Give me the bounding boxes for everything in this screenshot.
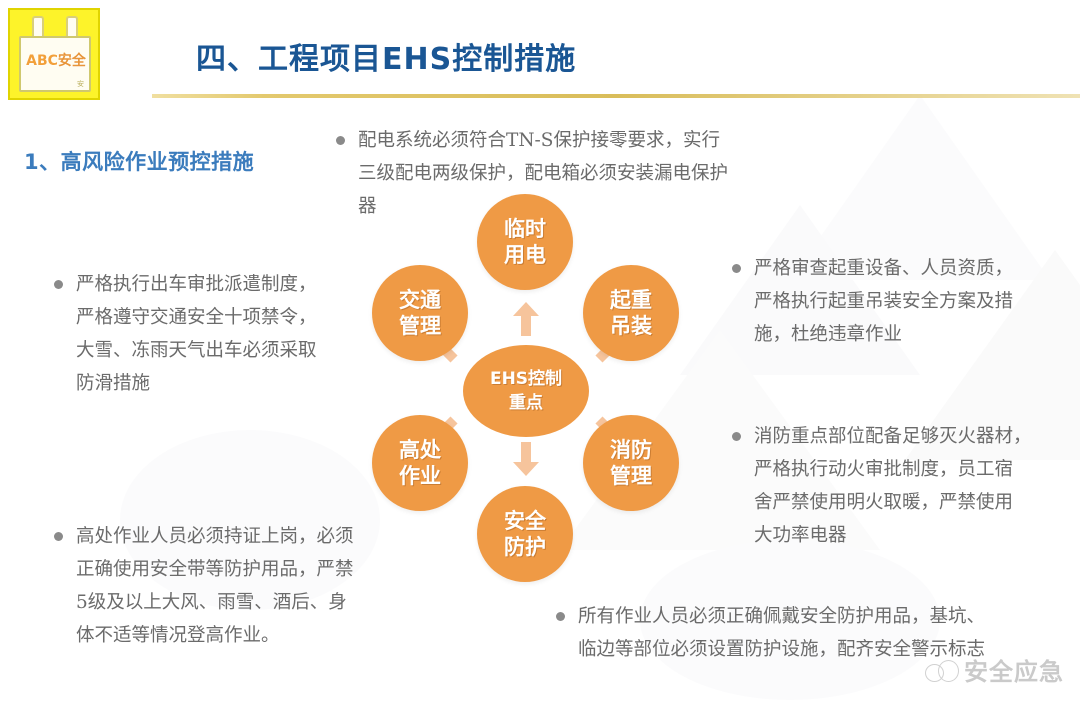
core-label-line2: 重点 (509, 391, 543, 415)
node-label-line2: 作业 (399, 463, 441, 489)
bullet-text: 高处作业人员必须持证上岗，必须 正确使用安全带等防护用品，严禁 5级及以上大风、… (76, 520, 354, 652)
node-label-line1: 交通 (399, 287, 441, 313)
ehs-radial-diagram: 临时 用电 交通 管理 起重 吊装 高处 作业 消防 管理 安全 防护 EHS控… (350, 190, 750, 590)
node-label-line2: 管理 (399, 313, 441, 339)
brand-logo: ABC安全 安 (8, 8, 100, 100)
node-label-line1: 临时 (504, 216, 546, 242)
bullet-fire-management: 消防重点部位配备足够灭火器材， 严格执行动火审批制度，员工宿 舍严禁使用明火取暖… (732, 420, 1072, 552)
bullet-safety-protection: 所有作业人员必须正确佩戴安全防护用品，基坑、 临边等部位必须设置防护设施，配齐安… (556, 600, 1076, 666)
node-label-line2: 管理 (610, 463, 652, 489)
node-label-line2: 用电 (504, 242, 546, 268)
logo-label-cn: 安全 (58, 53, 86, 69)
bullet-dot-icon (556, 612, 565, 621)
bullet-text: 所有作业人员必须正确佩戴安全防护用品，基坑、 临边等部位必须设置防护设施，配齐安… (578, 600, 985, 666)
page-title: 四、工程项目EHS控制措施 (196, 34, 576, 78)
node-label-line2: 吊装 (610, 313, 652, 339)
diagram-node-work-height[interactable]: 高处 作业 (372, 415, 468, 511)
section-heading: 1、高风险作业预控措施 (24, 146, 254, 176)
diagram-node-fire[interactable]: 消防 管理 (583, 415, 679, 511)
logo-label-latin: ABC (26, 53, 58, 69)
diagram-node-protection[interactable]: 安全 防护 (477, 486, 573, 582)
arrow-down-icon (513, 442, 539, 476)
logo-label: ABC安全 (10, 50, 102, 70)
diagram-node-temp-power[interactable]: 临时 用电 (477, 194, 573, 290)
core-label-line1: EHS控制 (490, 367, 562, 391)
bullet-dot-icon (54, 280, 63, 289)
node-label-line1: 消防 (610, 437, 652, 463)
arrow-up-icon (513, 302, 539, 336)
logo-mini-mark: 安 (77, 79, 84, 89)
node-label-line1: 高处 (399, 437, 441, 463)
bullet-traffic-management: 严格执行出车审批派遣制度， 严格遵守交通安全十项禁令， 大雪、冻雨天气出车必须采… (54, 268, 384, 400)
bullet-text: 严格执行出车审批派遣制度， 严格遵守交通安全十项禁令， 大雪、冻雨天气出车必须采… (76, 268, 317, 400)
diagram-node-traffic[interactable]: 交通 管理 (372, 265, 468, 361)
bullet-text: 消防重点部位配备足够灭火器材， 严格执行动火审批制度，员工宿 舍严禁使用明火取暖… (754, 420, 1032, 552)
bullet-text: 严格审查起重设备、人员资质， 严格执行起重吊装安全方案及措 施，杜绝违章作业 (754, 252, 1013, 351)
node-label-line1: 安全 (504, 508, 546, 534)
node-label-line1: 起重 (610, 287, 652, 313)
diagram-node-lifting[interactable]: 起重 吊装 (583, 265, 679, 361)
bullet-lifting-operations: 严格审查起重设备、人员资质， 严格执行起重吊装安全方案及措 施，杜绝违章作业 (732, 252, 1072, 351)
slide-header: ABC安全 安 四、工程项目EHS控制措施 (0, 0, 1080, 108)
node-label-line2: 防护 (504, 534, 546, 560)
bullet-dot-icon (336, 136, 345, 145)
bullet-dot-icon (54, 532, 63, 541)
title-divider (152, 94, 1080, 98)
diagram-core-node[interactable]: EHS控制 重点 (463, 345, 589, 437)
